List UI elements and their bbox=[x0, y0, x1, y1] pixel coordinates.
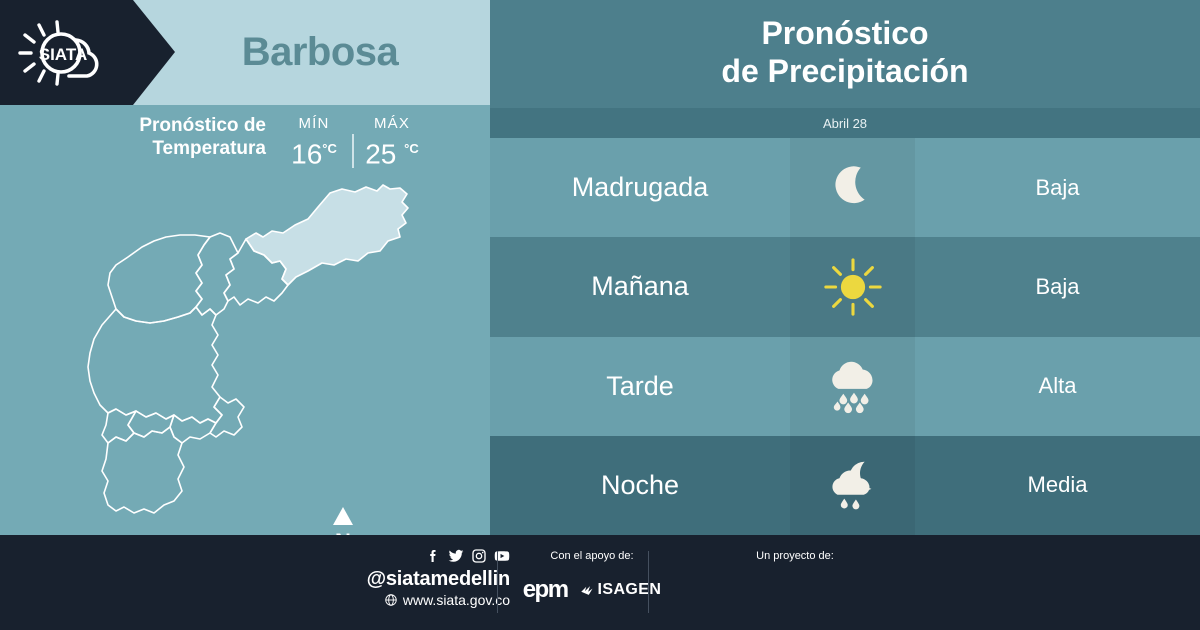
temperature-block: Pronóstico de Temperatura MÍN 16°C MÁX 2… bbox=[0, 112, 490, 182]
forecast-date: Abril 28 bbox=[823, 116, 867, 131]
forecast-row-madrugada[interactable]: Madrugada Baja bbox=[490, 138, 1200, 237]
min-temperature: MÍN 16°C bbox=[278, 114, 350, 169]
footer-divider-2 bbox=[648, 551, 649, 613]
precipitation-level: Baja bbox=[915, 138, 1200, 237]
forecast-title-line1: Pronóstico bbox=[761, 15, 928, 51]
instagram-icon[interactable] bbox=[471, 548, 487, 564]
max-value: 25 bbox=[365, 138, 396, 169]
weather-icon-cell bbox=[790, 138, 915, 237]
facebook-icon[interactable] bbox=[425, 548, 441, 564]
rain-cloud-icon bbox=[822, 355, 884, 417]
weather-icon-cell bbox=[790, 337, 915, 436]
logo-wordmark: SIATA bbox=[39, 45, 87, 64]
twitter-icon[interactable] bbox=[448, 548, 464, 564]
minmax-divider bbox=[352, 134, 354, 168]
isagen-mark-icon bbox=[580, 583, 595, 598]
period-label: Noche bbox=[490, 436, 790, 535]
moon-rain-cloud-icon bbox=[822, 454, 884, 516]
min-unit: °C bbox=[322, 141, 337, 156]
period-label: Mañana bbox=[490, 237, 790, 336]
precipitation-panel: Pronóstico de Precipitación Abril 28 Mad… bbox=[490, 0, 1200, 535]
period-label: Tarde bbox=[490, 337, 790, 436]
map-svg bbox=[50, 175, 450, 525]
page-title: Barbosa bbox=[150, 0, 490, 105]
min-value-wrap: 16°C bbox=[278, 134, 350, 169]
footer: @siatamedellin www.siata.gov.co Con el a… bbox=[0, 535, 1200, 630]
map-region-envigado bbox=[210, 397, 244, 437]
forecast-row-noche[interactable]: Noche Media bbox=[490, 436, 1200, 535]
forecast-title: Pronóstico de Precipitación bbox=[490, 14, 1200, 90]
period-label: Madrugada bbox=[490, 138, 790, 237]
forecast-date-strip: Abril 28 bbox=[490, 108, 1200, 138]
forecast-row-tarde[interactable]: Tarde Alta bbox=[490, 337, 1200, 436]
epm-logo[interactable]: epm bbox=[523, 576, 568, 604]
forecast-rows: Madrugada Baja Mañana bbox=[490, 138, 1200, 535]
project-caption: Un proyecto de: bbox=[700, 549, 890, 563]
precipitation-level: Baja bbox=[915, 237, 1200, 336]
sun-icon bbox=[822, 256, 884, 318]
forecast-title-line2: de Precipitación bbox=[721, 53, 968, 89]
temperature-title-line1: Pronóstico de bbox=[139, 115, 266, 136]
map-region-medellin bbox=[88, 307, 222, 423]
forecast-header: Pronóstico de Precipitación bbox=[490, 0, 1200, 108]
website-url: www.siata.gov.co bbox=[403, 591, 510, 609]
precipitation-level: Alta bbox=[915, 337, 1200, 436]
forecast-row-manana[interactable]: Mañana bbox=[490, 237, 1200, 336]
min-value: 16 bbox=[291, 138, 322, 169]
min-max-group: MÍN 16°C MÁX 25 °C bbox=[278, 114, 428, 169]
social-handle[interactable]: @siatamedellin bbox=[330, 567, 510, 591]
globe-icon bbox=[384, 593, 398, 607]
weather-icon-cell bbox=[790, 237, 915, 336]
sun-cloud-icon: SIATA bbox=[14, 19, 126, 87]
website-row[interactable]: www.siata.gov.co bbox=[330, 591, 510, 609]
social-block: @siatamedellin www.siata.gov.co bbox=[330, 547, 510, 609]
max-label: MÁX bbox=[356, 114, 428, 134]
isagen-logo[interactable]: ISAGEN bbox=[580, 581, 662, 599]
project-block: Un proyecto de: bbox=[700, 549, 890, 573]
aburra-valley-map[interactable]: N bbox=[50, 175, 450, 525]
footer-divider-1 bbox=[497, 551, 498, 613]
min-label: MÍN bbox=[278, 114, 350, 134]
map-region-barbosa bbox=[246, 185, 408, 285]
weather-icon-cell bbox=[790, 436, 915, 535]
weather-infographic: Barbosa SIATA Pronóstico de bbox=[0, 0, 1200, 630]
moon-icon bbox=[822, 157, 884, 219]
temperature-title-line2: Temperatura bbox=[152, 138, 266, 159]
max-unit: °C bbox=[404, 141, 419, 156]
map-region-bello bbox=[108, 235, 210, 323]
left-panel: Barbosa SIATA Pronóstico de bbox=[0, 0, 490, 535]
max-temperature: MÁX 25 °C bbox=[356, 114, 428, 169]
map-region-caldas bbox=[102, 427, 184, 513]
max-value-wrap: 25 °C bbox=[356, 134, 428, 169]
temperature-title: Pronóstico de Temperatura bbox=[86, 114, 266, 160]
precipitation-level: Media bbox=[915, 436, 1200, 535]
map-region-copacabana bbox=[196, 233, 238, 315]
social-icons bbox=[330, 547, 510, 565]
